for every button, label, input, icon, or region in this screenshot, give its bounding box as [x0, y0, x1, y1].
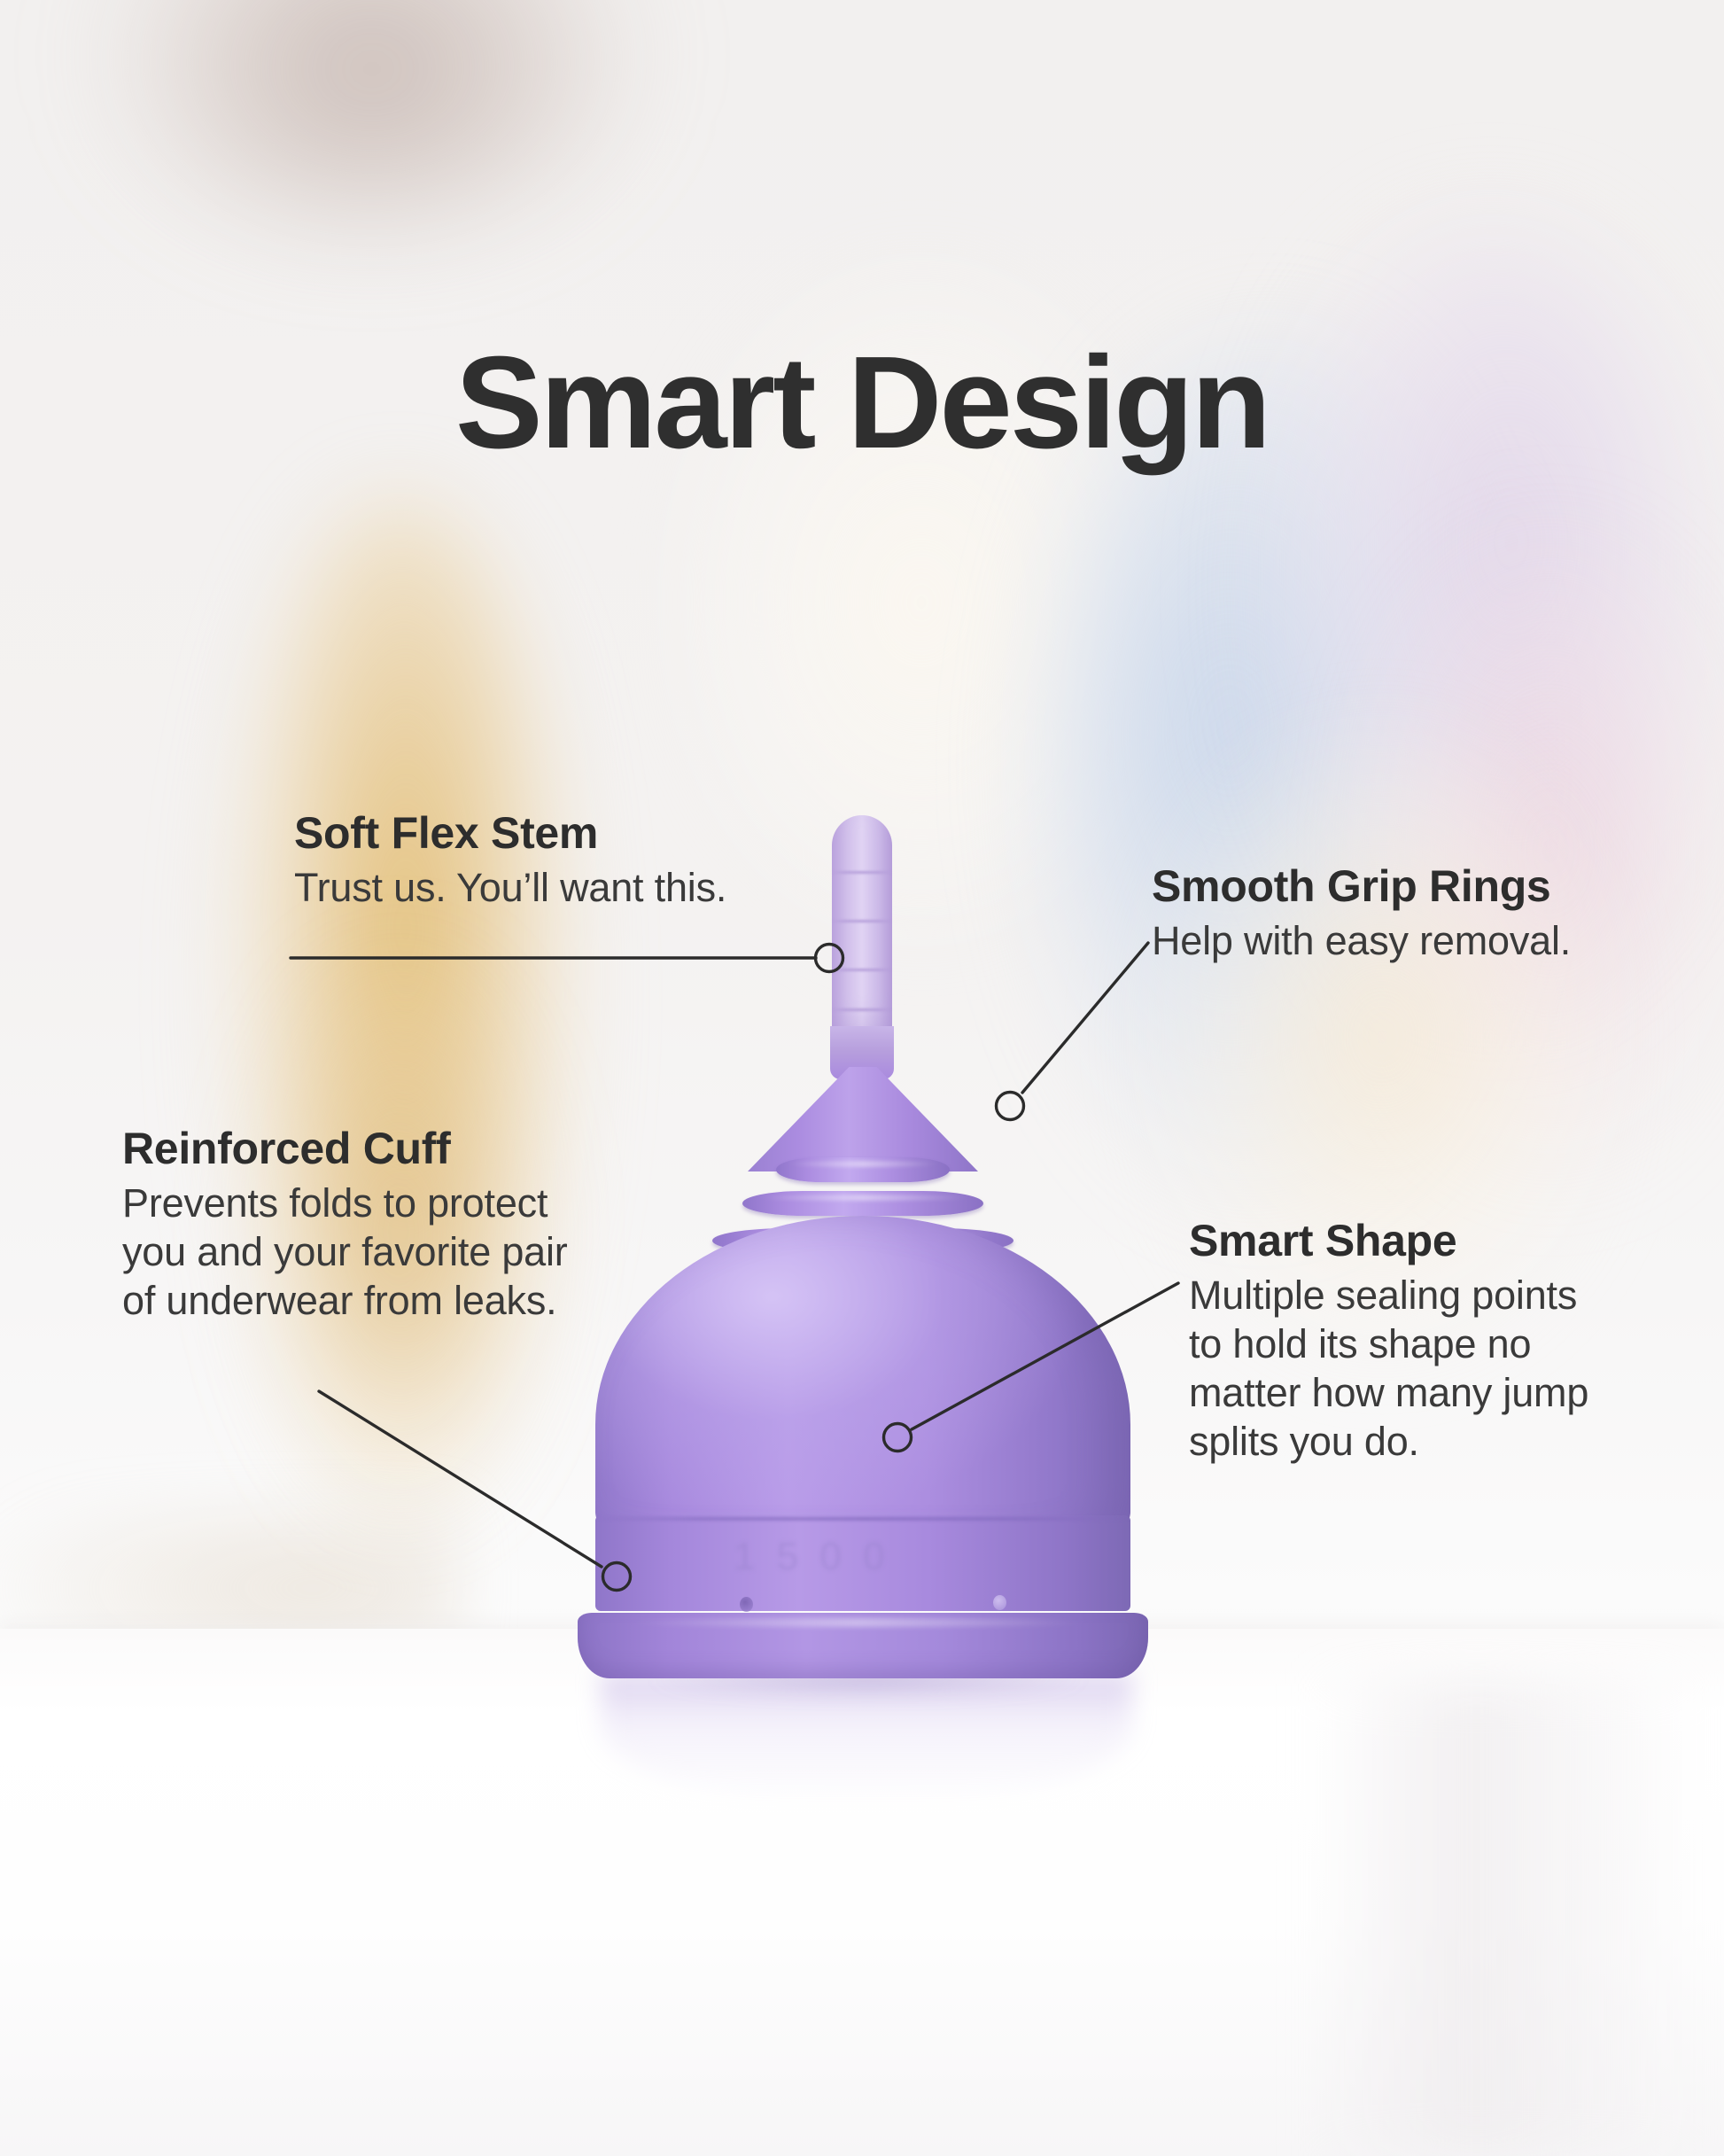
callout-soft-flex-stem: Soft Flex Stem Trust us. You’ll want thi…: [294, 808, 861, 913]
callout-reinforced-cuff: Reinforced Cuff Prevents folds to protec…: [122, 1124, 672, 1326]
callout-smart-shape: Smart Shape Multiple sealing points to h…: [1189, 1216, 1685, 1467]
callout-title: Soft Flex Stem: [294, 808, 861, 859]
callout-body-line: of underwear from leaks.: [122, 1277, 672, 1326]
callout-body: Help with easy removal.: [1152, 917, 1683, 966]
surface-vertical-shade: [1311, 1684, 1683, 2156]
air-hole: [740, 1597, 753, 1612]
callout-body-line: you and your favorite pair: [122, 1228, 672, 1277]
callout-smooth-grip-rings: Smooth Grip Rings Help with easy removal…: [1152, 861, 1683, 966]
callout-body-line: Trust us. You’ll want this.: [294, 864, 861, 913]
callout-title: Reinforced Cuff: [122, 1124, 672, 1174]
callout-body-line: Help with easy removal.: [1152, 917, 1683, 966]
air-hole: [993, 1595, 1006, 1610]
embossed-marking: 1 5 0 0: [734, 1535, 999, 1576]
grip-ring: [742, 1191, 983, 1216]
callout-body: Trust us. You’ll want this.: [294, 864, 861, 913]
infographic-canvas: Smart Design 1 5 0 0: [0, 0, 1724, 2156]
cup-flare: [748, 1067, 978, 1171]
cuff-seam-line: [595, 1517, 1130, 1521]
callout-body-line: Prevents folds to protect: [122, 1179, 672, 1228]
callout-title: Smooth Grip Rings: [1152, 861, 1683, 912]
callout-title: Smart Shape: [1189, 1216, 1685, 1266]
callout-body-line: splits you do.: [1189, 1418, 1685, 1467]
cup-body: [595, 1216, 1130, 1553]
callout-body: Multiple sealing points to hold its shap…: [1189, 1272, 1685, 1467]
stem-ridge: [832, 969, 892, 971]
callout-body-line: to hold its shape no: [1189, 1320, 1685, 1369]
stem-ridge: [832, 1008, 892, 1011]
grip-ring: [776, 1157, 950, 1182]
callout-body-line: matter how many jump: [1189, 1369, 1685, 1418]
callout-body-line: Multiple sealing points: [1189, 1272, 1685, 1320]
base-highlight: [627, 1618, 1088, 1627]
callout-body: Prevents folds to protect you and your f…: [122, 1179, 672, 1326]
page-title: Smart Design: [0, 338, 1724, 469]
stem-ridge: [832, 920, 892, 922]
